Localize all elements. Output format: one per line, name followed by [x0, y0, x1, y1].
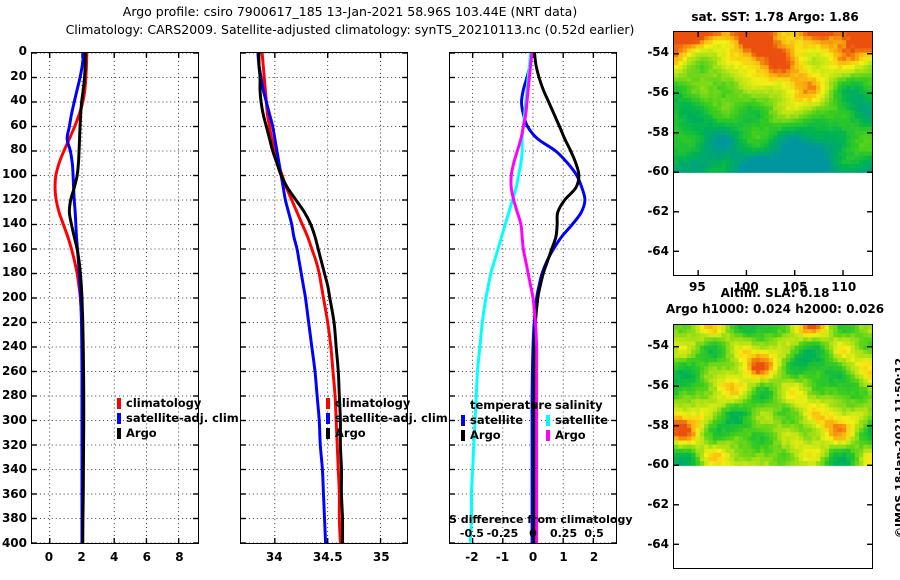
y-tick-140: 140: [2, 216, 27, 230]
x-tick-temperature-2: 4: [110, 550, 118, 564]
y-tick-120: 120: [2, 192, 27, 206]
legend-label: climatology: [126, 396, 201, 411]
salinity-satellite-swatch: [546, 415, 550, 426]
x-tick-salinity-2: 35: [373, 550, 390, 564]
sla-map-y-tick-2: -58: [647, 418, 669, 432]
difference-legend: temperature satellite Argo salinity sate…: [461, 398, 626, 443]
legend-item: satellite: [546, 413, 626, 428]
legend-item: Argo: [326, 426, 452, 441]
y-tick-300: 300: [2, 413, 27, 427]
curve-temperature-satellite: [522, 53, 585, 543]
x-tick-tdiff-0: -2: [465, 550, 478, 564]
legend-item: satellite-adj. clim.: [117, 411, 243, 426]
temperature-curves: [32, 53, 198, 543]
x-tick-sdiff-3: 0.25: [550, 527, 577, 540]
legend-item: Argo: [117, 426, 243, 441]
legend-label: Argo: [555, 428, 586, 443]
curve-salinity-satellite: [470, 53, 530, 543]
legend-item: climatology: [326, 396, 452, 411]
sst-map-x-tick-1: 100: [734, 280, 759, 294]
y-tick-80: 80: [10, 142, 27, 156]
salinity-group-label: salinity: [555, 398, 603, 413]
legend-item: climatology: [117, 396, 243, 411]
legend-label: Argo: [470, 428, 501, 443]
sst-map-y-tick-2: -58: [647, 125, 669, 139]
sst-map-x-tick-0: 95: [689, 280, 706, 294]
sla-map-y-tick-0: -54: [647, 338, 669, 352]
temperature-satellite-swatch: [461, 415, 465, 426]
sst-map-x-tick-3: 110: [831, 280, 856, 294]
y-tick-40: 40: [10, 93, 27, 107]
x-tick-temperature-4: 8: [175, 550, 183, 564]
argo-swatch: [326, 428, 330, 439]
salinity-curves: [241, 53, 407, 543]
y-tick-260: 260: [2, 364, 27, 378]
legend-item: satellite-adj. clim.: [326, 411, 452, 426]
title-line-2: Climatology: CARS2009. Satellite-adjuste…: [0, 22, 700, 37]
y-tick-240: 240: [2, 339, 27, 353]
imos-watermark: ©IMOS 18-Jan-2021 11:50:12: [893, 358, 900, 538]
x-tick-tdiff-4: 2: [590, 550, 598, 564]
temperature-argo-swatch: [461, 430, 465, 441]
y-tick-200: 200: [2, 290, 27, 304]
sst-map-y-tick-1: -56: [647, 85, 669, 99]
legend-label: satellite: [555, 413, 608, 428]
x-tick-sdiff-2: 0: [529, 527, 537, 540]
climatology-swatch: [326, 398, 330, 409]
legend-label: satellite-adj. clim.: [126, 411, 243, 426]
difference-panel[interactable]: [449, 52, 617, 544]
x-tick-sdiff-4: 0.5: [584, 527, 604, 540]
sst-map-y-tick-3: -60: [647, 164, 669, 178]
sla-map-title-line2: Argo h1000: 0.024 h2000: 0.026: [655, 302, 895, 316]
y-tick-380: 380: [2, 511, 27, 525]
x-tick-sdiff-0: -0.5: [460, 527, 484, 540]
temperature-legend: climatology satellite-adj. clim. Argo: [117, 396, 243, 441]
sst-map-x-tick-2: 105: [782, 280, 807, 294]
x-tick-temperature-3: 6: [143, 550, 151, 564]
x-tick-salinity-1: 34.5: [313, 550, 343, 564]
salinity-legend: climatology satellite-adj. clim. Argo: [326, 396, 452, 441]
satellite-adj-swatch: [326, 413, 330, 424]
legend-item: Argo: [546, 428, 626, 443]
sla-map-y-tick-3: -60: [647, 457, 669, 471]
x-tick-tdiff-1: -1: [496, 550, 509, 564]
sst-map-axes: [674, 32, 872, 275]
x-tick-temperature-0: 0: [45, 550, 53, 564]
y-tick-160: 160: [2, 241, 27, 255]
sst-map-y-tick-4: -62: [647, 204, 669, 218]
salinity-argo-swatch: [546, 430, 550, 441]
legend-label: satellite: [470, 413, 523, 428]
sla-map-y-tick-4: -62: [647, 497, 669, 511]
x-tick-tdiff-3: 1: [559, 550, 567, 564]
x-tick-temperature-1: 2: [77, 550, 85, 564]
y-tick-180: 180: [2, 265, 27, 279]
sla-map-y-tick-5: -64: [647, 537, 669, 551]
curve-temperature-argo: [534, 53, 579, 543]
y-tick-100: 100: [2, 167, 27, 181]
legend-item: satellite: [461, 413, 546, 428]
legend-label: satellite-adj. clim.: [335, 411, 452, 426]
satellite-adj-swatch: [117, 413, 121, 424]
salinity-panel[interactable]: [240, 52, 408, 544]
sla-map-y-tick-1: -56: [647, 378, 669, 392]
sla-map-panel[interactable]: [673, 324, 873, 569]
x-tick-tdiff-2: 0: [529, 550, 537, 564]
sst-map-panel[interactable]: [673, 31, 873, 276]
y-tick-400: 400: [2, 536, 27, 550]
legend-label: Argo: [126, 426, 157, 441]
sst-map-title: sat. SST: 1.78 Argo: 1.86: [660, 10, 890, 24]
y-tick-20: 20: [10, 69, 27, 83]
y-tick-360: 360: [2, 487, 27, 501]
title-line-1: Argo profile: csiro 7900617_185 13-Jan-2…: [0, 4, 700, 19]
y-tick-60: 60: [10, 118, 27, 132]
climatology-swatch: [117, 398, 121, 409]
x-tick-salinity-0: 34: [266, 550, 283, 564]
x-tick-sdiff-1: -0.25: [487, 527, 519, 540]
s-difference-axis-label: S difference from climatology: [449, 513, 617, 526]
legend-label: climatology: [335, 396, 410, 411]
legend-group-header: salinity: [546, 398, 626, 413]
argo-swatch: [117, 428, 121, 439]
sst-map-y-tick-5: -64: [647, 244, 669, 258]
y-tick-320: 320: [2, 438, 27, 452]
sla-map-axes: [674, 325, 872, 568]
y-tick-340: 340: [2, 462, 27, 476]
y-tick-220: 220: [2, 315, 27, 329]
difference-curves: [450, 53, 616, 543]
sst-map-y-tick-0: -54: [647, 45, 669, 59]
legend-label: Argo: [335, 426, 366, 441]
temperature-panel[interactable]: [31, 52, 199, 544]
legend-item: Argo: [461, 428, 546, 443]
curve-argo: [69, 53, 85, 543]
y-tick-0: 0: [19, 44, 27, 58]
y-tick-280: 280: [2, 388, 27, 402]
temperature-group-label: temperature: [470, 398, 552, 413]
legend-group-header: temperature: [461, 398, 546, 413]
